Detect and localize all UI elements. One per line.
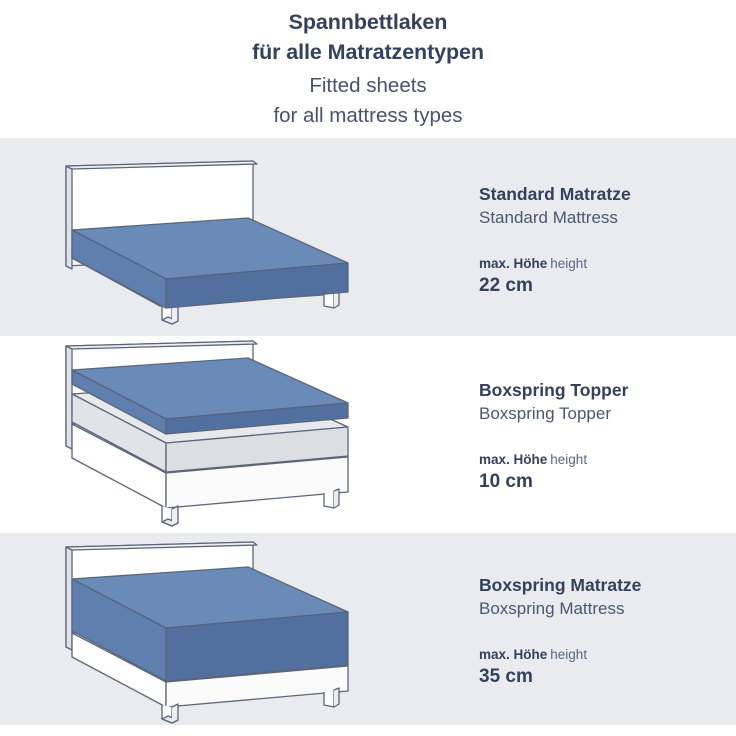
page-title-en: Fitted sheets for all mattress types (273, 71, 462, 131)
label-en-standard-matratze: Standard Mattress (479, 206, 729, 230)
height-label-de-boxspring-topper: max. Höhe (479, 452, 547, 467)
height-row-boxspring-topper: max. Höheheight (479, 450, 729, 469)
text-block-standard-matratze: Standard Matratze Standard Mattress max.… (479, 182, 729, 298)
text-block-boxspring-topper: Boxspring Topper Boxspring Topper max. H… (479, 378, 729, 494)
page-title-de: Spannbettlaken für alle Matratzentypen (252, 7, 484, 67)
label-en-boxspring-topper: Boxspring Topper (479, 402, 729, 426)
height-value-boxspring-topper: 10 cm (479, 470, 729, 494)
page-title-en-line1: Fitted sheets (273, 71, 462, 101)
label-de-standard-matratze: Standard Matratze (479, 182, 729, 206)
section-boxspring-topper: Boxspring Topper Boxspring Topper max. H… (0, 336, 736, 533)
height-label-en-boxspring-topper: height (550, 452, 587, 467)
height-value-boxspring-matratze: 35 cm (479, 665, 729, 689)
page-title-en-line2: for all mattress types (273, 101, 462, 131)
section-standard-matratze: Standard Matratze Standard Mattress max.… (0, 138, 736, 336)
height-row-standard-matratze: max. Höheheight (479, 254, 729, 273)
text-block-boxspring-matratze: Boxspring Matratze Boxspring Mattress ma… (479, 573, 729, 689)
label-en-boxspring-matratze: Boxspring Mattress (479, 597, 729, 621)
bed-boxspring-mattress-illustration (48, 533, 388, 725)
height-value-standard-matratze: 22 cm (479, 274, 729, 298)
bed-standard-mattress-illustration (48, 138, 388, 336)
bed-boxspring-topper-illustration (48, 336, 388, 533)
label-de-boxspring-topper: Boxspring Topper (479, 378, 729, 402)
header: Spannbettlaken für alle Matratzentypen F… (0, 0, 736, 138)
height-label-en-standard-matratze: height (550, 256, 587, 271)
height-label-de-boxspring-matratze: max. Höhe (479, 647, 547, 662)
page-title-de-line1: Spannbettlaken (252, 7, 484, 37)
height-row-boxspring-matratze: max. Höheheight (479, 645, 729, 664)
height-label-en-boxspring-matratze: height (550, 647, 587, 662)
page-title-de-line2: für alle Matratzentypen (252, 37, 484, 67)
label-de-boxspring-matratze: Boxspring Matratze (479, 573, 729, 597)
section-boxspring-matratze: Boxspring Matratze Boxspring Mattress ma… (0, 533, 736, 725)
height-label-de-standard-matratze: max. Höhe (479, 256, 547, 271)
